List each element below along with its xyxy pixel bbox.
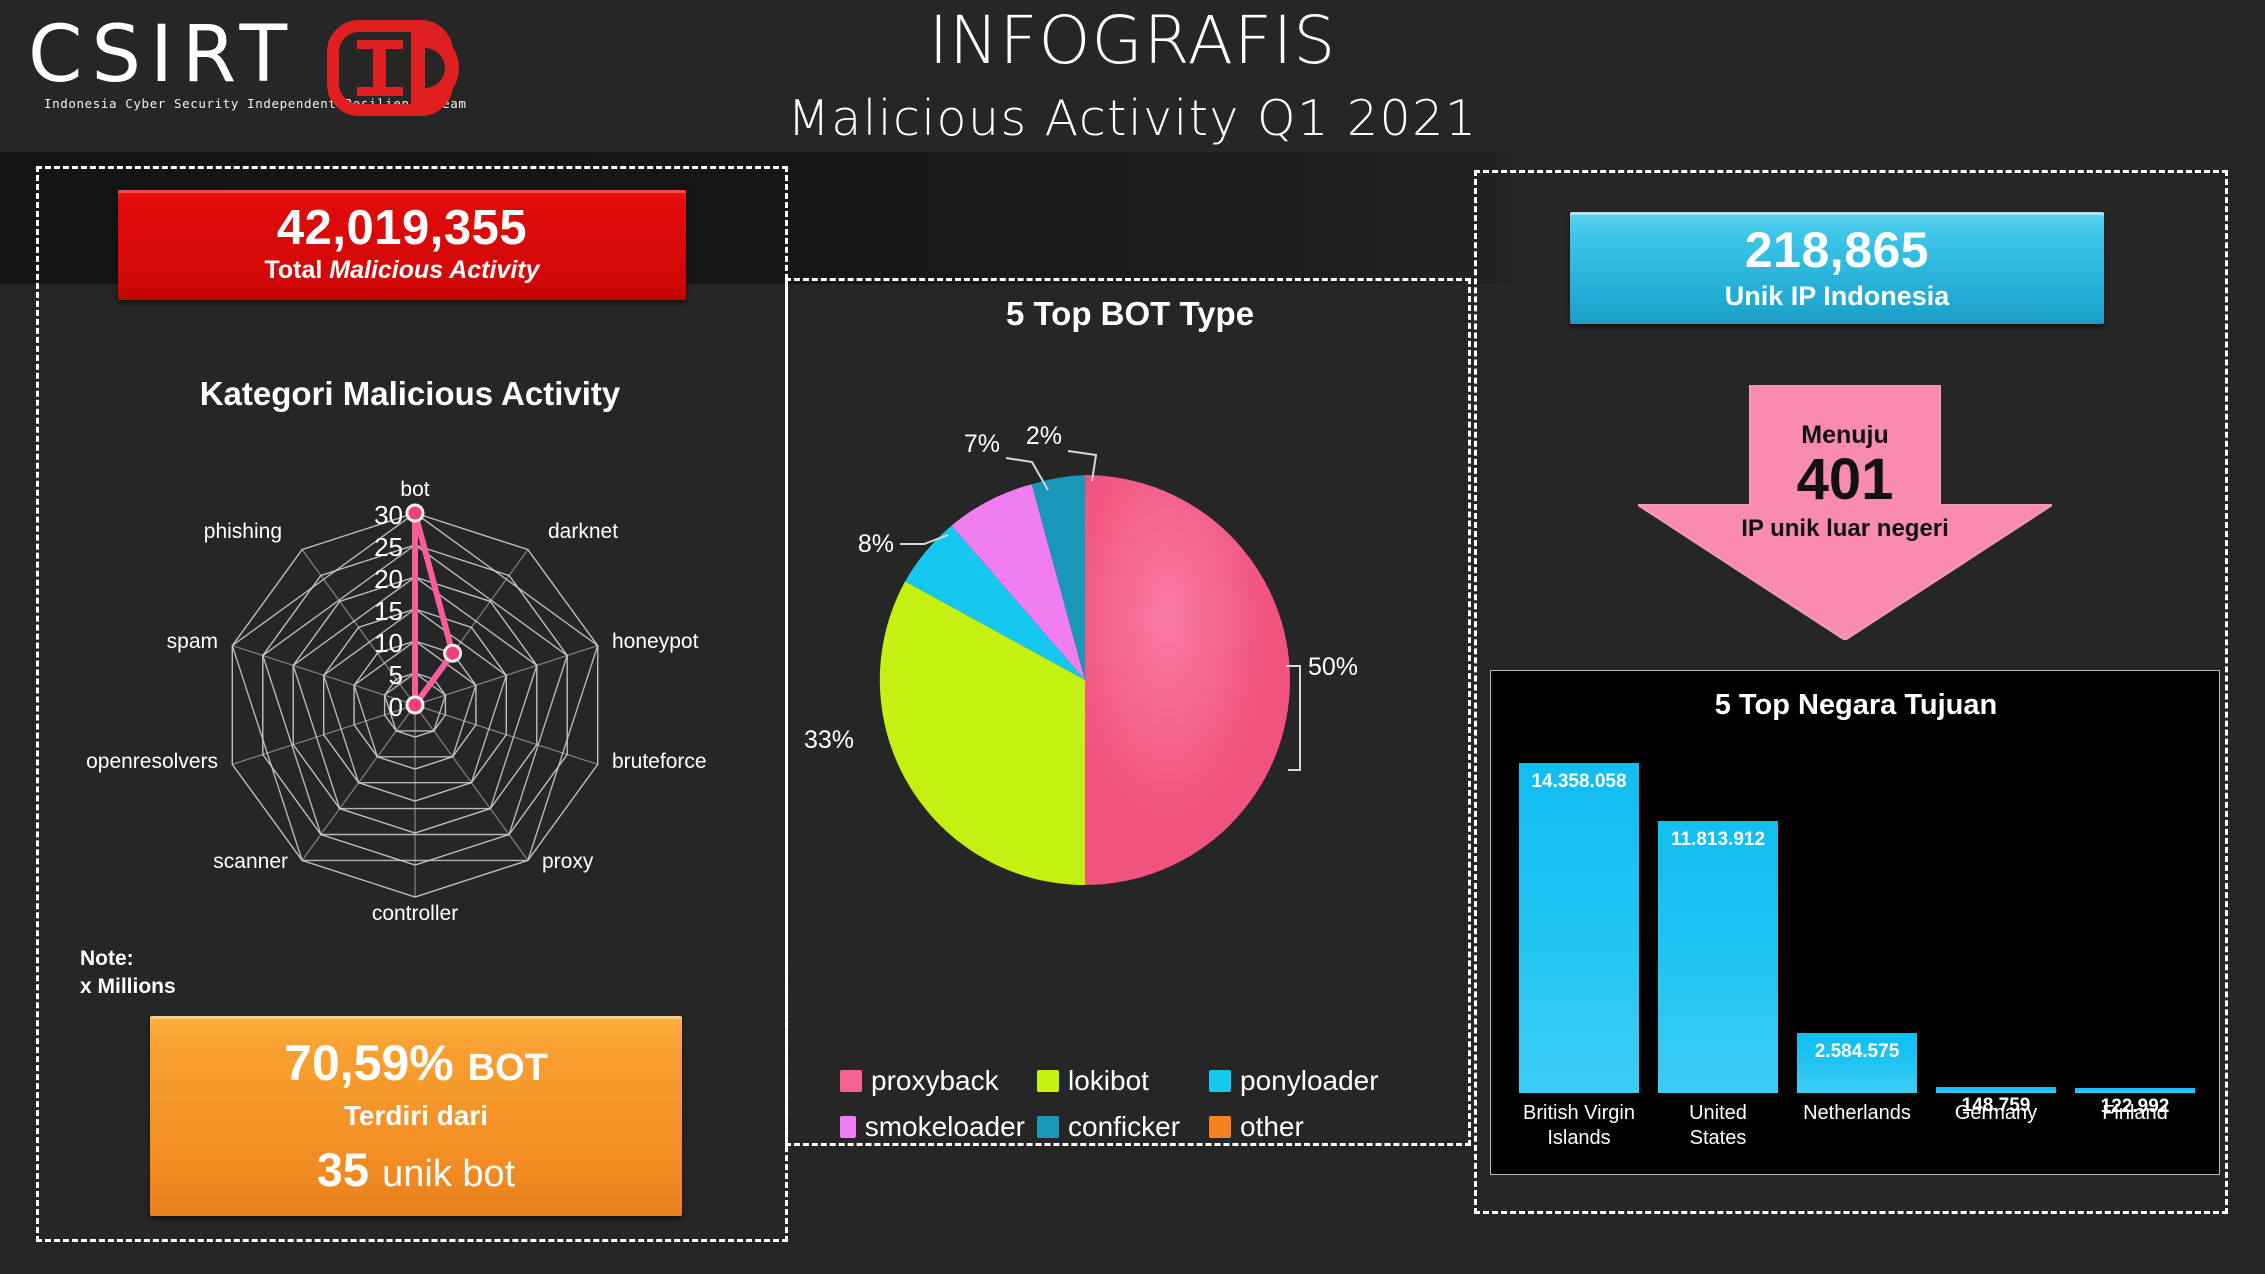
legend-item-smokeloader[interactable]: smokeloader (840, 1104, 1025, 1150)
page-header: CSIRT Indonesia Cyber Security Independe… (0, 0, 2265, 152)
legend-label-lokibot: lokibot (1068, 1065, 1149, 1097)
legend-item-other[interactable]: other (1209, 1104, 1304, 1150)
pie-slice-proxyback (1085, 475, 1290, 885)
radar-note-line1: Note: (80, 945, 176, 973)
radar-series-line (415, 513, 453, 705)
radar-tick-10: 10 (374, 628, 403, 658)
total-malicious-activity-label: Total Malicious Activity (118, 256, 686, 285)
legend-item-lokibot[interactable]: lokibot (1037, 1058, 1197, 1104)
bot-percentage-line: 70,59% BOT (150, 1016, 682, 1092)
bot-percentage-box: 70,59% BOT Terdiri dari 35 unik bot (150, 1016, 682, 1216)
radar-axis-spam: spam (167, 630, 218, 653)
bar-chart-bars: 14.358.058 11.813.912 2.584.575 148.759 … (1519, 763, 2195, 1093)
legend-item-proxyback[interactable]: proxyback (840, 1058, 1025, 1104)
page-subtitle: Malicious Activity Q1 2021 (0, 90, 2265, 147)
bar-value-germany: 148.759 (1962, 1095, 2031, 1117)
total-label-italic: Malicious Activity (329, 256, 539, 284)
bar-value-finland: 122.992 (2101, 1096, 2170, 1118)
bot-count-unit: unik bot (382, 1153, 515, 1195)
page-title: INFOGRAFIS (0, 2, 2265, 79)
unique-ip-label: Unik IP Indonesia (1570, 281, 2104, 312)
legend-label-other: other (1240, 1111, 1304, 1143)
legend-label-proxyback: proxyback (871, 1065, 999, 1097)
pie-label-proxyback: 50% (1308, 653, 1358, 681)
radar-chart: 0 5 10 15 20 25 30 bot darknet honeypot … (50, 420, 710, 950)
legend-item-conficker[interactable]: conficker (1037, 1104, 1197, 1150)
legend-swatch-conficker (1037, 1116, 1059, 1138)
legend-swatch-lokibot (1037, 1070, 1059, 1092)
legend-swatch-proxyback (840, 1070, 862, 1092)
pie-chart-title: 5 Top BOT Type (800, 295, 1460, 333)
total-label-plain: Total (264, 256, 329, 284)
bar-column-finland[interactable]: 122.992 (2075, 763, 2195, 1093)
radar-axis-scanner: scanner (213, 850, 288, 873)
bar-rect-finland (2075, 1088, 2195, 1093)
radar-tick-0: 0 (389, 692, 403, 722)
total-malicious-activity-box: 42,019,355 Total Malicious Activity (118, 190, 686, 300)
down-arrow-callout: Menuju 401 IP unik luar negeri (1638, 385, 2052, 640)
radar-axis-controller: controller (372, 902, 458, 925)
bar-chart-category-labels: British Virgin Islands United States Net… (1519, 1101, 2195, 1151)
bar-value-united-states: 11.813.912 (1671, 829, 1765, 851)
bar-value-british-virgin-islands: 14.358.058 (1531, 771, 1626, 793)
pie-label-lokibot: 33% (804, 726, 854, 754)
radar-tick-30: 30 (374, 500, 403, 530)
legend-swatch-ponyloader (1209, 1070, 1231, 1092)
radar-axis-bot: bot (400, 478, 429, 501)
arrow-value: 401 (1638, 450, 2052, 511)
radar-tick-25: 25 (374, 532, 403, 562)
radar-note: Note: x Millions (80, 945, 176, 1002)
legend-item-ponyloader[interactable]: ponyloader (1209, 1058, 1379, 1104)
bar-column-germany[interactable]: 148.759 (1936, 763, 2056, 1093)
bar-rect-germany (1936, 1087, 2056, 1093)
radar-tick-5: 5 (389, 660, 403, 690)
bar-chart-title: 5 Top Negara Tujuan (1491, 689, 2221, 722)
pie-chart: 2% 7% 8% 33% 50% (800, 330, 1460, 1030)
radar-chart-title: Kategori Malicious Activity (100, 375, 720, 413)
bar-rect-british-virgin-islands (1519, 763, 1639, 1093)
legend-label-conficker: conficker (1068, 1111, 1180, 1143)
bar-label-british-virgin-islands: British Virgin Islands (1519, 1101, 1639, 1151)
bar-column-united-states[interactable]: 11.813.912 (1658, 763, 1778, 1093)
arrow-line-caption: IP unik luar negeri (1638, 515, 2052, 543)
legend-swatch-smokeloader (840, 1116, 856, 1138)
radar-axis-proxy: proxy (542, 850, 594, 873)
radar-axis-bruteforce: bruteforce (612, 750, 707, 773)
bot-percentage-unit: BOT (468, 1047, 548, 1089)
legend-label-ponyloader: ponyloader (1240, 1065, 1379, 1097)
radar-axis-openresolvers: openresolvers (86, 750, 218, 773)
pie-label-conficker: 2% (1026, 422, 1062, 450)
radar-tick-20: 20 (374, 564, 403, 594)
bar-column-netherlands[interactable]: 2.584.575 (1797, 763, 1917, 1093)
bar-chart-panel: 5 Top Negara Tujuan 14.358.058 11.813.91… (1490, 670, 2220, 1175)
legend-label-smokeloader: smokeloader (865, 1111, 1025, 1143)
bar-label-united-states: United States (1658, 1101, 1778, 1151)
bot-middle-label: Terdiri dari (150, 1100, 682, 1132)
pie-label-smokeloader: 7% (964, 430, 1000, 458)
bar-rect-united-states (1658, 821, 1778, 1093)
radar-axis-darknet: darknet (548, 520, 618, 543)
radar-tick-15: 15 (374, 596, 403, 626)
bar-label-netherlands: Netherlands (1797, 1101, 1917, 1151)
radar-axis-phishing: phishing (204, 520, 282, 543)
pie-legend: proxyback lokibot ponyloader smokeloader… (840, 1058, 1440, 1150)
unique-ip-value: 218,865 (1570, 212, 2104, 277)
bar-column-british-virgin-islands[interactable]: 14.358.058 (1519, 763, 1639, 1093)
total-malicious-activity-value: 42,019,355 (118, 190, 686, 254)
radar-note-line2: x Millions (80, 973, 176, 1001)
unique-ip-indonesia-box: 218,865 Unik IP Indonesia (1570, 212, 2104, 324)
arrow-text-block: Menuju 401 IP unik luar negeri (1638, 385, 2052, 543)
bot-count-line: 35 unik bot (150, 1142, 682, 1197)
bot-percentage-value: 70,59% (284, 1035, 454, 1091)
bot-count-value: 35 (317, 1143, 369, 1196)
legend-swatch-other (1209, 1116, 1231, 1138)
radar-axis-honeypot: honeypot (612, 630, 699, 653)
bar-value-netherlands: 2.584.575 (1815, 1041, 1900, 1063)
arrow-line-menuju: Menuju (1638, 385, 2052, 450)
pie-label-ponyloader: 8% (858, 530, 894, 558)
